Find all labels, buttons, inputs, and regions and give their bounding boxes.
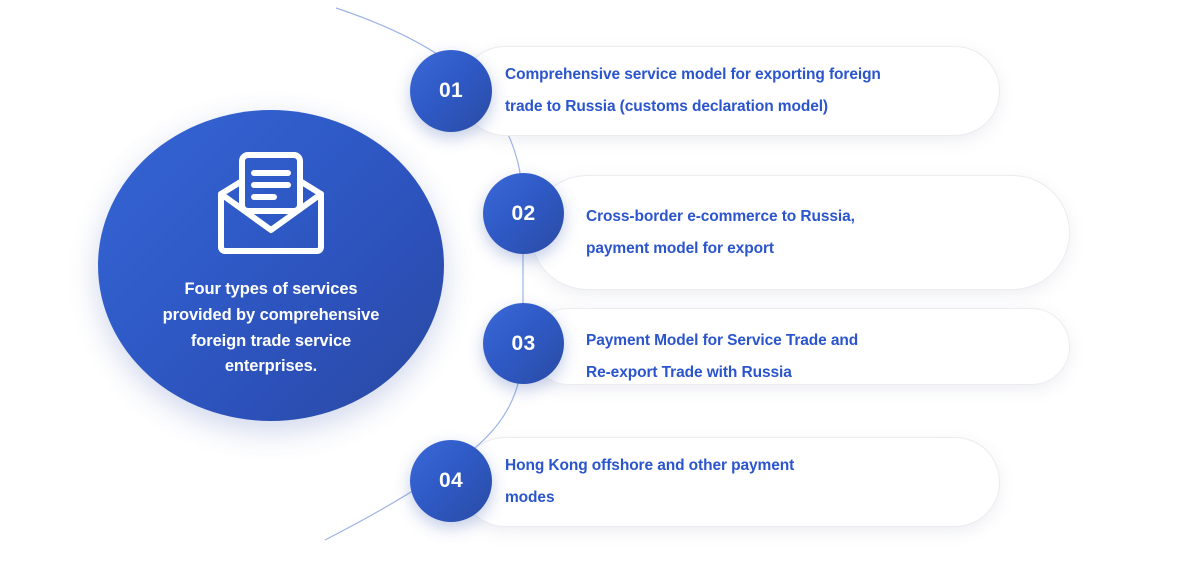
open-envelope-document-icon [212,151,330,255]
hub-caption: Four types of services provided by compr… [153,277,389,379]
step-card[interactable]: Comprehensive service model for exportin… [460,46,1000,136]
step-text: Hong Kong offshore and other payment mod… [505,450,794,514]
step-card[interactable]: Cross-border e-commerce to Russia, payme… [530,175,1070,290]
step-number-badge[interactable]: 01 [410,50,492,132]
hub-circle: Four types of services provided by compr… [98,110,444,421]
step-text: Comprehensive service model for exportin… [505,59,881,123]
step-card[interactable]: Payment Model for Service Trade and Re-e… [530,308,1070,385]
step-number-badge[interactable]: 03 [483,303,564,384]
step-text: Cross-border e-commerce to Russia, payme… [586,201,855,265]
step-text: Payment Model for Service Trade and Re-e… [586,325,858,389]
step-number-badge[interactable]: 02 [483,173,564,254]
step-card[interactable]: Hong Kong offshore and other payment mod… [460,437,1000,527]
infographic-canvas: Four types of services provided by compr… [0,0,1184,582]
step-number-badge[interactable]: 04 [410,440,492,522]
